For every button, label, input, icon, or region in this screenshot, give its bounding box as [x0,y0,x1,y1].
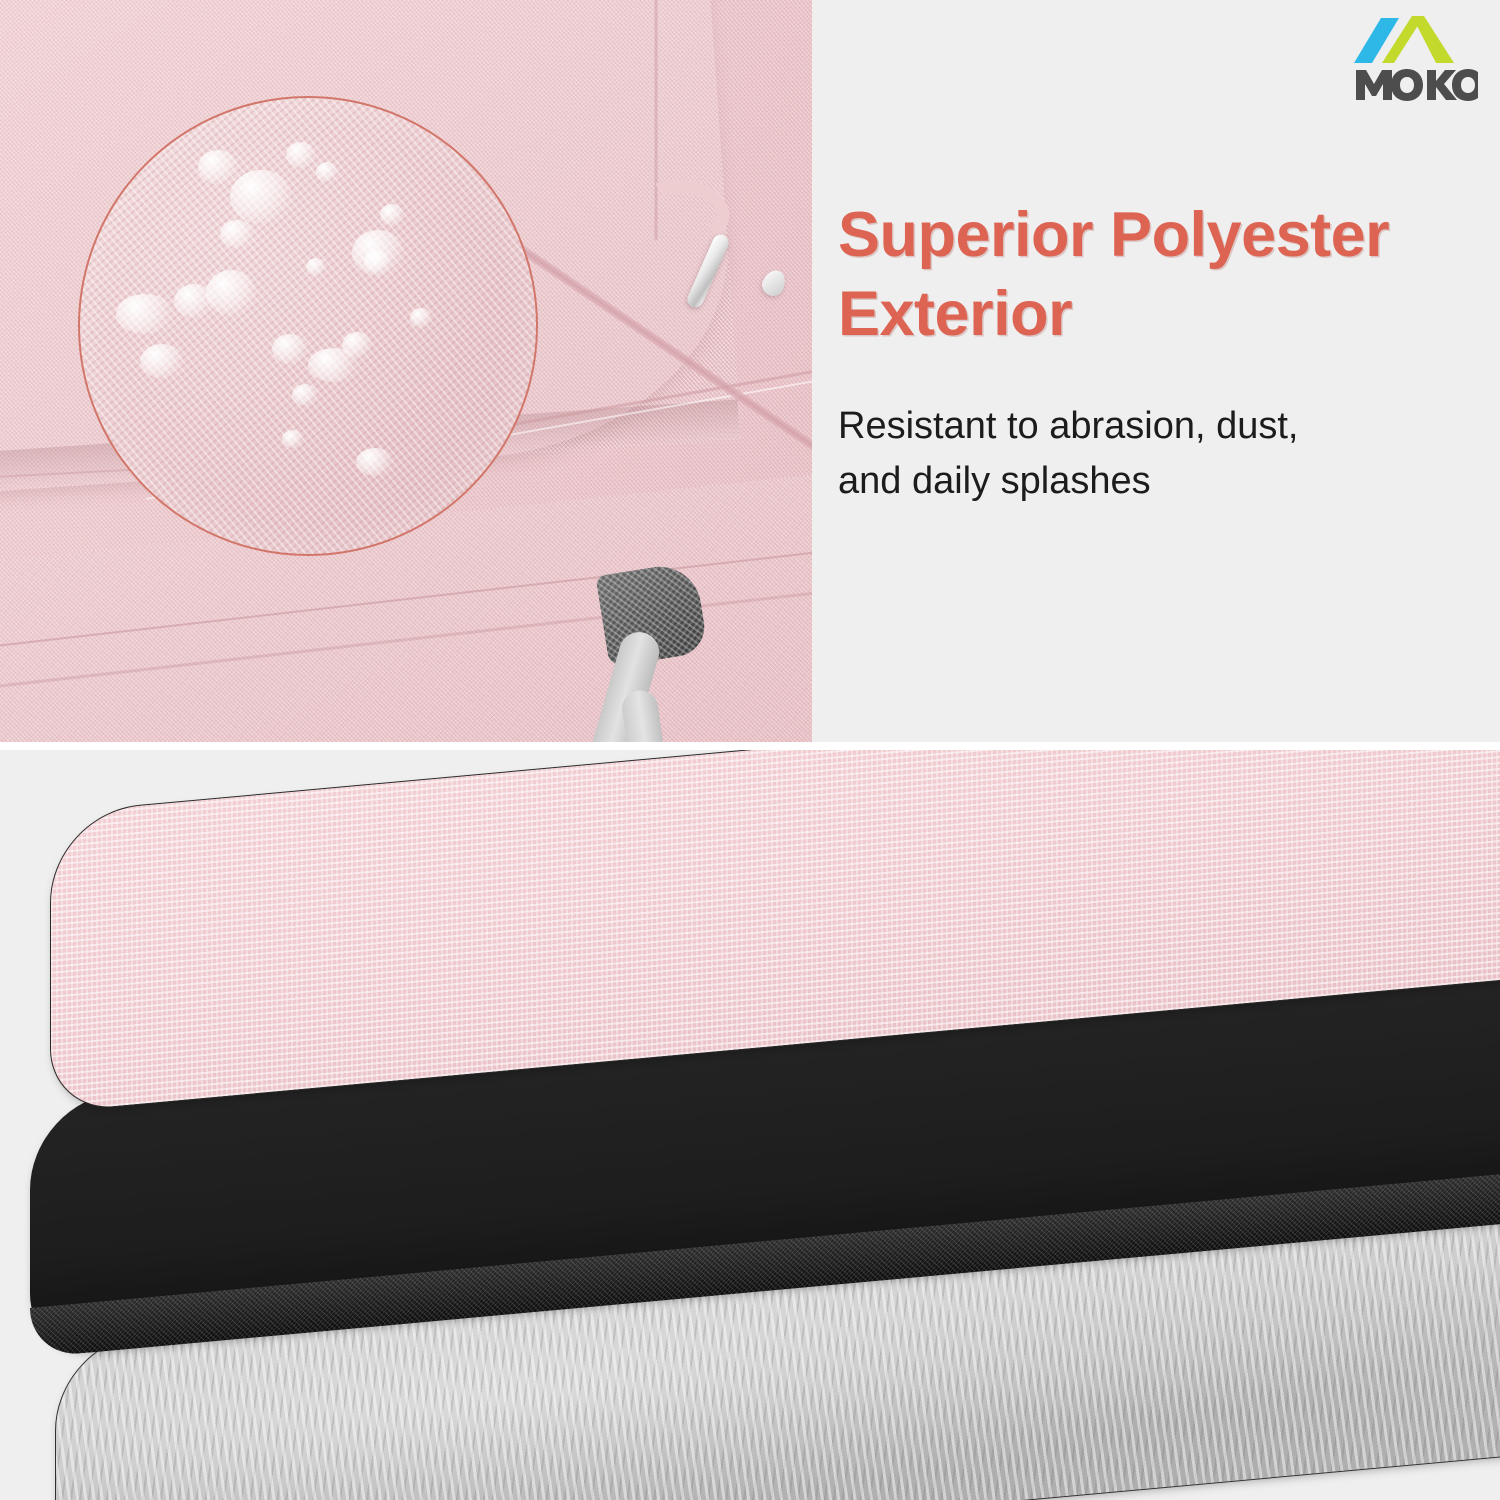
moko-mountain-logo-icon [1354,16,1454,63]
water-droplet [286,142,316,168]
water-droplet [140,344,184,378]
panel-divider [0,742,1500,750]
subtext-top-line2: and daily splashes [838,460,1151,502]
water-droplet [292,384,318,406]
water-droplet [282,430,304,448]
product-feature-image: Superior Polyester Exterior Resistant to… [0,0,1500,1500]
water-droplet [306,258,326,276]
subtext-top-line1: Resistant to abrasion, dust, [838,405,1298,447]
water-droplet [316,162,338,182]
water-droplet [198,150,238,184]
moko-wordmark [1356,69,1478,101]
water-droplet [272,334,308,364]
water-droplet [410,308,432,328]
water-droplet [116,294,174,334]
headline-top-line1: Superior Polyester [838,200,1389,270]
headline-block-top: Superior Polyester Exterior Resistant to… [838,196,1478,509]
subtext-top: Resistant to abrasion, dust, and daily s… [838,399,1478,509]
water-droplet [380,204,404,226]
panel-ductile-cotton-interlayer: Ductile Cotton Interlayer Thick and shoc… [0,750,1500,1500]
water-droplet [342,332,372,358]
headline-top: Superior Polyester Exterior [838,196,1478,355]
water-droplet [356,448,394,476]
moko-logo [1346,6,1478,102]
pink-laptop-sleeve-photo [0,0,812,745]
panel-superior-polyester-exterior: Superior Polyester Exterior Resistant to… [0,0,1500,745]
water-droplet [206,270,256,316]
water-droplet [230,170,292,224]
headline-top-line2: Exterior [838,279,1072,349]
water-droplet [220,220,254,248]
water-droplet [364,250,390,274]
fabric-magnifier-circle [78,96,538,556]
